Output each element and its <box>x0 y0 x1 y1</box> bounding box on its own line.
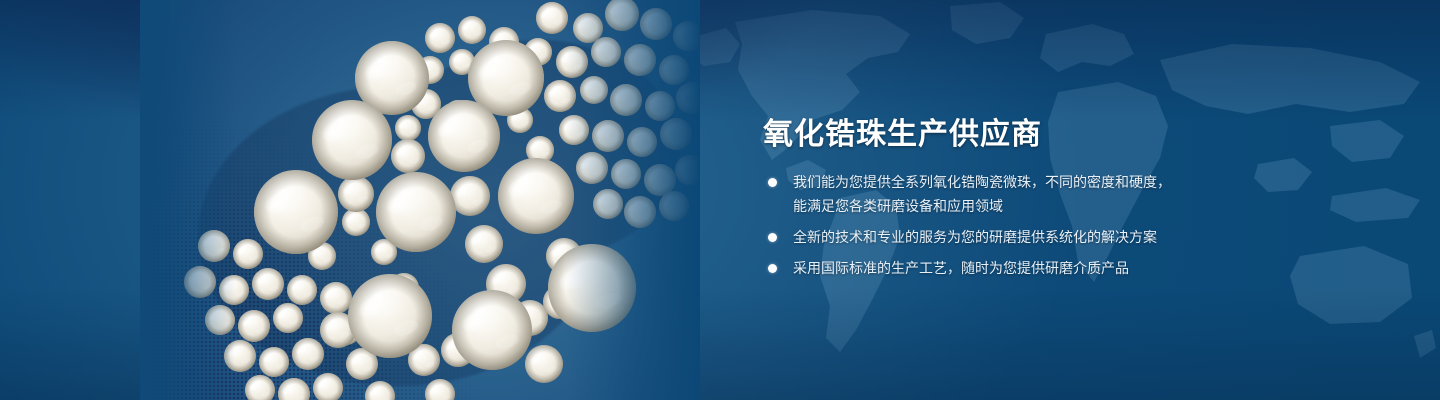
bullet-dot-icon <box>768 178 777 187</box>
banner-copy: 氧化锆珠生产供应商 我们能为您提供全系列氧化锆陶瓷微珠，不同的密度和硬度， 能满… <box>763 0 1323 400</box>
bullet-text-line: 我们能为您提供全系列氧化锆陶瓷微珠，不同的密度和硬度， <box>793 170 1171 194</box>
banner-bullet-list: 我们能为您提供全系列氧化锆陶瓷微珠，不同的密度和硬度， 能满足您各类研磨设备和应… <box>768 170 1171 280</box>
bullet-text-line: 能满足您各类研磨设备和应用领域 <box>793 194 1171 218</box>
hero-banner: 氧化锆珠生产供应商 我们能为您提供全系列氧化锆陶瓷微珠，不同的密度和硬度， 能满… <box>0 0 1440 400</box>
banner-headline: 氧化锆珠生产供应商 <box>763 109 1042 153</box>
bullet-dot-icon <box>768 233 777 242</box>
list-item: 我们能为您提供全系列氧化锆陶瓷微珠，不同的密度和硬度， 能满足您各类研磨设备和应… <box>768 170 1171 218</box>
list-item: 采用国际标准的生产工艺，随时为您提供研磨介质产品 <box>768 256 1171 280</box>
list-item: 全新的技术和专业的服务为您的研磨提供系统化的解决方案 <box>768 225 1171 249</box>
bullet-text-line: 采用国际标准的生产工艺，随时为您提供研磨介质产品 <box>793 256 1171 280</box>
bullet-dot-icon <box>768 264 777 273</box>
bead-cluster <box>140 0 700 400</box>
bullet-text-line: 全新的技术和专业的服务为您的研磨提供系统化的解决方案 <box>793 225 1171 249</box>
zirconia-beads-photo <box>140 0 700 400</box>
